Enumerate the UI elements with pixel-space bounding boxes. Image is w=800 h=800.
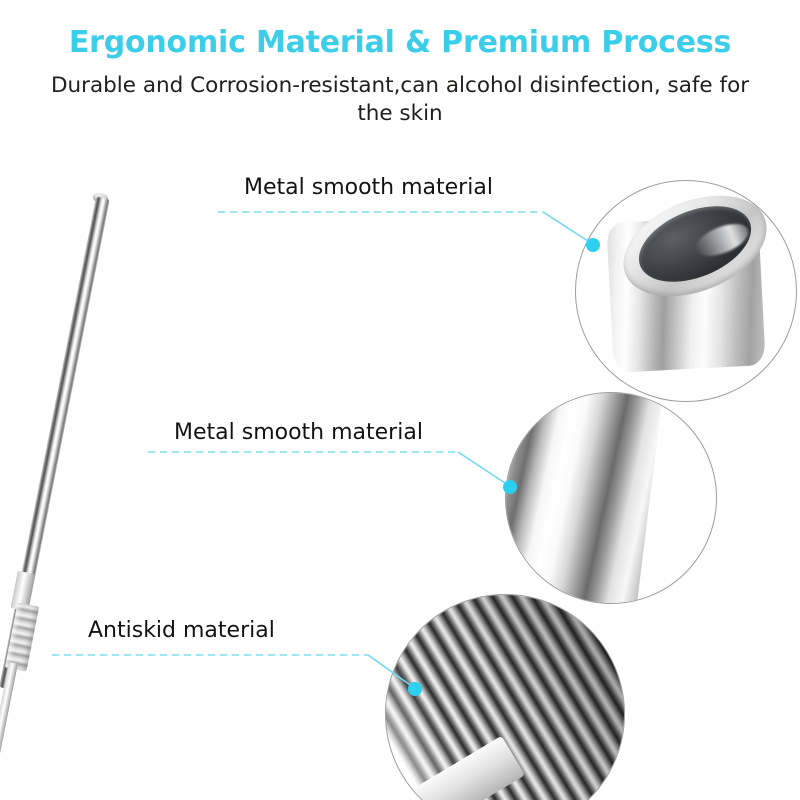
rod-knurled-collar [5, 602, 39, 671]
polished-shaft-surface [505, 392, 667, 604]
leader-angle-2 [458, 452, 508, 485]
zoom-circle-tube-end [575, 180, 797, 402]
zoom-circle-knurled-grip [385, 594, 625, 800]
page-title: Ergonomic Material & Premium Process [0, 26, 800, 59]
callout-label-polished-shaft: Metal smooth material [174, 422, 423, 444]
product-infographic: Ergonomic Material & Premium Process Dur… [0, 0, 800, 800]
page-subtitle: Durable and Corrosion-resistant,can alco… [40, 72, 760, 129]
callout-label-tube-end: Metal smooth material [244, 177, 493, 199]
leader-angle-1 [543, 212, 591, 243]
product-image-rod [0, 180, 240, 800]
zoom-circle-polished-shaft [505, 392, 717, 604]
callout-label-antiskid: Antiskid material [88, 620, 275, 642]
